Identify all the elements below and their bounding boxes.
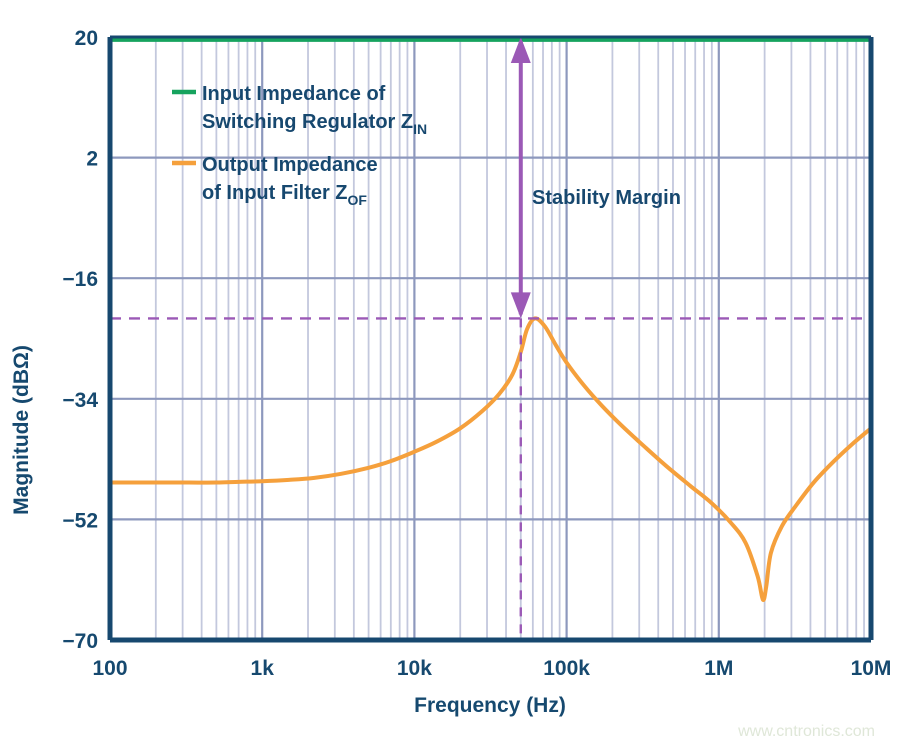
- watermark: www.cntronics.com: [737, 723, 875, 740]
- legend-label-output-impedance-line1: Output Impedance: [202, 154, 378, 176]
- x-tick-label: 100: [92, 657, 127, 680]
- impedance-plot: Stability Margin 202−16−34−52−70 1001k10…: [0, 0, 900, 750]
- x-tick-label: 1k: [251, 657, 275, 680]
- x-axis-title: Frequency (Hz): [414, 694, 566, 717]
- y-tick-label: 2: [86, 148, 98, 171]
- y-axis-title: Magnitude (dBΩ): [10, 345, 33, 515]
- x-tick-label: 100k: [543, 657, 590, 680]
- y-tick-label: −52: [62, 509, 98, 532]
- y-tick-label: −34: [62, 389, 98, 412]
- chart-container: Stability Margin 202−16−34−52−70 1001k10…: [0, 0, 900, 750]
- x-tick-label: 1M: [704, 657, 733, 680]
- x-tick-label: 10k: [397, 657, 432, 680]
- x-tick-label: 10M: [851, 657, 892, 680]
- y-tick-label: −70: [62, 630, 98, 653]
- y-tick-label: 20: [75, 27, 98, 50]
- stability-margin-label: Stability Margin: [532, 187, 681, 209]
- legend-label-input-impedance-line1: Input Impedance of: [202, 83, 386, 105]
- y-tick-label: −16: [62, 268, 98, 291]
